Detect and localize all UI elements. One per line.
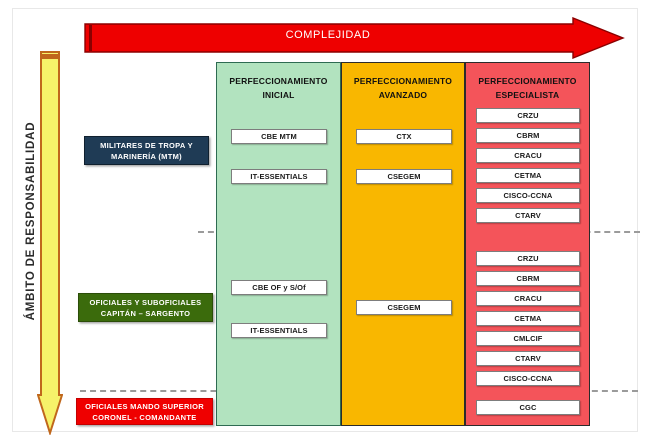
course-chip[interactable]: CMLCIF (476, 331, 580, 346)
course-chip[interactable]: CBE OF y S/Of (231, 280, 327, 295)
course-chip[interactable]: CTARV (476, 208, 580, 223)
course-chip[interactable]: CBE MTM (231, 129, 327, 144)
course-chip[interactable]: CTARV (476, 351, 580, 366)
course-chip[interactable]: CBRM (476, 128, 580, 143)
column-perfeccionamiento-especialista: PERFECCIONAMIENTO ESPECIALISTA CRZU CBRM… (465, 62, 590, 426)
course-chip[interactable]: CRACU (476, 291, 580, 306)
course-chip[interactable]: CBRM (476, 271, 580, 286)
column-perfeccionamiento-inicial: PERFECCIONAMIENTO INICIAL CBE MTM IT-ESS… (216, 62, 341, 426)
role-label-line1: OFICIALES MANDO SUPERIOR (85, 401, 204, 412)
course-chip[interactable]: CSEGEM (356, 169, 452, 184)
column-header-line1: PERFECCIONAMIENTO (466, 74, 589, 88)
course-chip[interactable]: IT-ESSENTIALS (231, 323, 327, 338)
role-label-militares-tropa-marineria: MILITARES DE TROPA Y MARINERÍA (MTM) (84, 136, 209, 165)
responsibility-axis-arrow (37, 50, 63, 435)
column-header-line2: INICIAL (217, 88, 340, 102)
course-chip[interactable]: CGC (476, 400, 580, 415)
column-header-avanzado: PERFECCIONAMIENTO AVANZADO (342, 63, 464, 102)
column-header-line2: ESPECIALISTA (466, 88, 589, 102)
role-label-line1: MILITARES DE TROPA Y (100, 140, 193, 151)
role-label-oficiales-mando-superior: OFICIALES MANDO SUPERIOR CORONEL - COMAN… (76, 398, 213, 425)
diagram-canvas: COMPLEJIDAD ÁMBITO DE RESPONSABILIDAD MI… (0, 0, 650, 440)
role-label-line1: OFICIALES Y SUBOFICIALES (90, 297, 202, 308)
course-chip[interactable]: CETMA (476, 168, 580, 183)
role-label-oficiales-suboficiales: OFICIALES Y SUBOFICIALES CAPITÁN – SARGE… (78, 293, 213, 322)
course-chip[interactable]: CETMA (476, 311, 580, 326)
column-header-line2: AVANZADO (342, 88, 464, 102)
course-chip[interactable]: CRZU (476, 251, 580, 266)
column-header-line1: PERFECCIONAMIENTO (342, 74, 464, 88)
column-header-especialista: PERFECCIONAMIENTO ESPECIALISTA (466, 63, 589, 102)
role-label-line2: MARINERÍA (MTM) (111, 151, 182, 162)
course-chip[interactable]: CRZU (476, 108, 580, 123)
course-chip[interactable]: IT-ESSENTIALS (231, 169, 327, 184)
course-chip[interactable]: CSEGEM (356, 300, 452, 315)
column-header-line1: PERFECCIONAMIENTO (217, 74, 340, 88)
course-chip[interactable]: CISCO-CCNA (476, 371, 580, 386)
course-chip[interactable]: CISCO-CCNA (476, 188, 580, 203)
course-chip[interactable]: CTX (356, 129, 452, 144)
role-label-line2: CAPITÁN – SARGENTO (101, 308, 190, 319)
column-header-inicial: PERFECCIONAMIENTO INICIAL (217, 63, 340, 102)
course-chip[interactable]: CRACU (476, 148, 580, 163)
role-label-line2: CORONEL - COMANDANTE (92, 412, 196, 423)
responsibility-axis-label: ÁMBITO DE RESPONSABILIDAD (25, 86, 37, 356)
complexity-axis-label: COMPLEJIDAD (83, 29, 573, 41)
column-perfeccionamiento-avanzado: PERFECCIONAMIENTO AVANZADO CTX CSEGEM CS… (341, 62, 465, 426)
